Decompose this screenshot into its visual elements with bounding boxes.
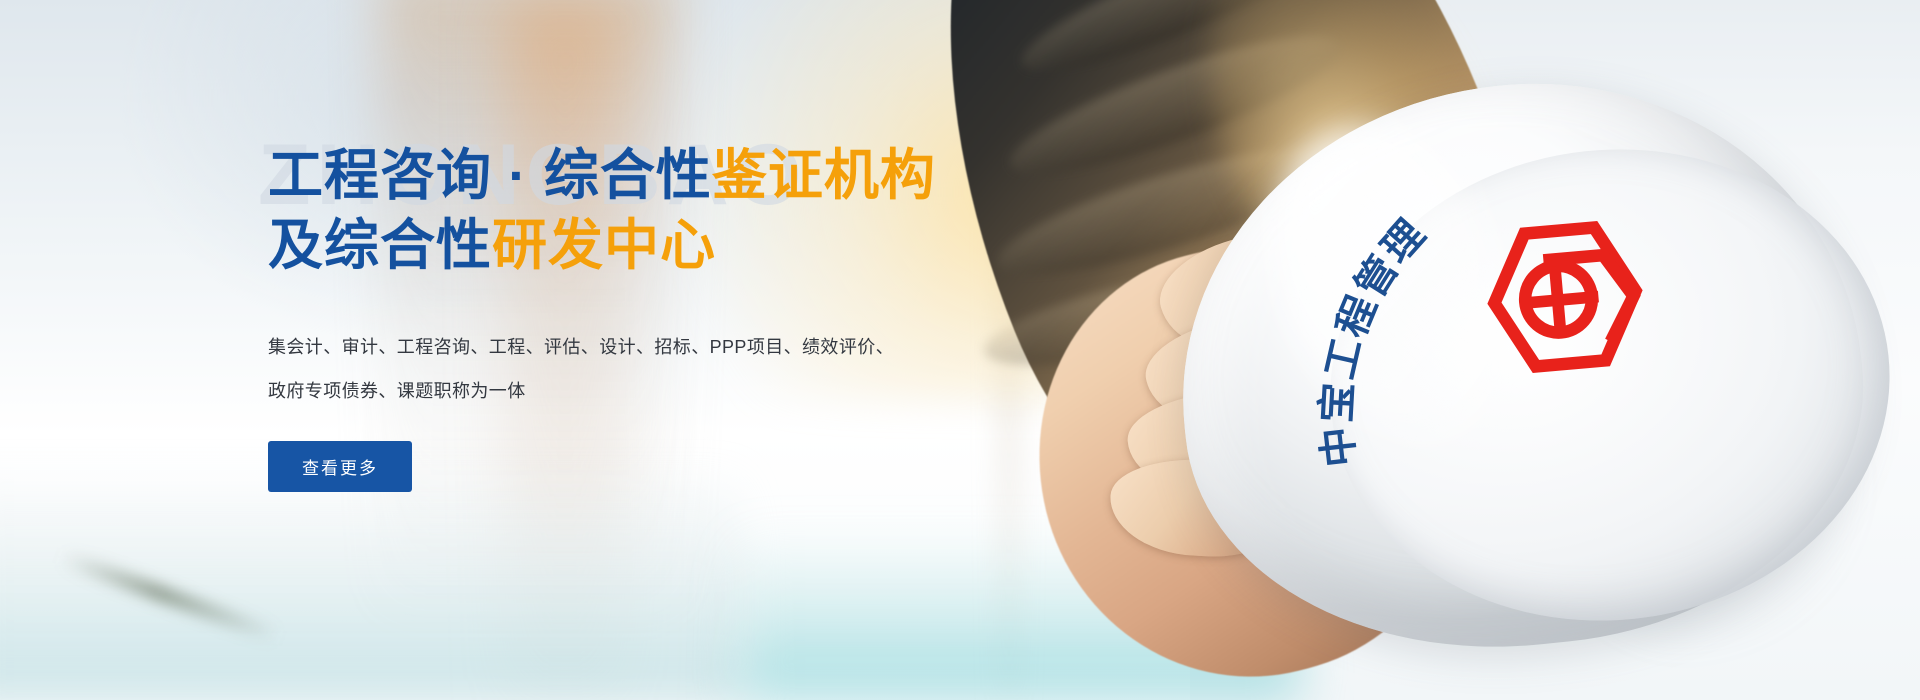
zhongbao-hexagon-logo [1474,215,1656,379]
background-lower-structures [0,470,740,700]
helmet-brand-label: 中宝工程管理 [1300,209,1450,470]
helmet-brand-textpath: 中宝工程管理 [1300,209,1450,470]
page-title: 工程咨询 · 综合性鉴证机构 及综合性研发中心 [268,140,1108,281]
hero-description: 集会计、审计、工程咨询、工程、评估、设计、招标、PPP项目、绩效评价、 政府专项… [268,325,1108,413]
view-more-button[interactable]: 查看更多 [268,441,412,492]
headline-line-1-accent: 鉴证机构 [712,144,936,206]
hero-copy: ZHONGBAO 工程咨询 · 综合性鉴证机构 及综合性研发中心 集会计、审计、… [268,140,1108,492]
description-line-1: 集会计、审计、工程咨询、工程、评估、设计、招标、PPP项目、绩效评价、 [268,325,1108,369]
description-line-2: 政府专项债券、课题职称为一体 [268,369,1108,413]
headline-line-2-accent: 研发中心 [492,214,716,276]
headline-line-2-primary: 及综合性 [268,214,492,276]
headline-line-1-primary: 工程咨询 · 综合性 [268,144,712,206]
headline-line-2: 及综合性研发中心 [268,210,1108,280]
headline-line-1: 工程咨询 · 综合性鉴证机构 [268,140,1108,210]
hero-banner: 中宝工程管理 ZHONGBAO 工程咨询 · 综合性鉴证机构 [0,0,1920,700]
